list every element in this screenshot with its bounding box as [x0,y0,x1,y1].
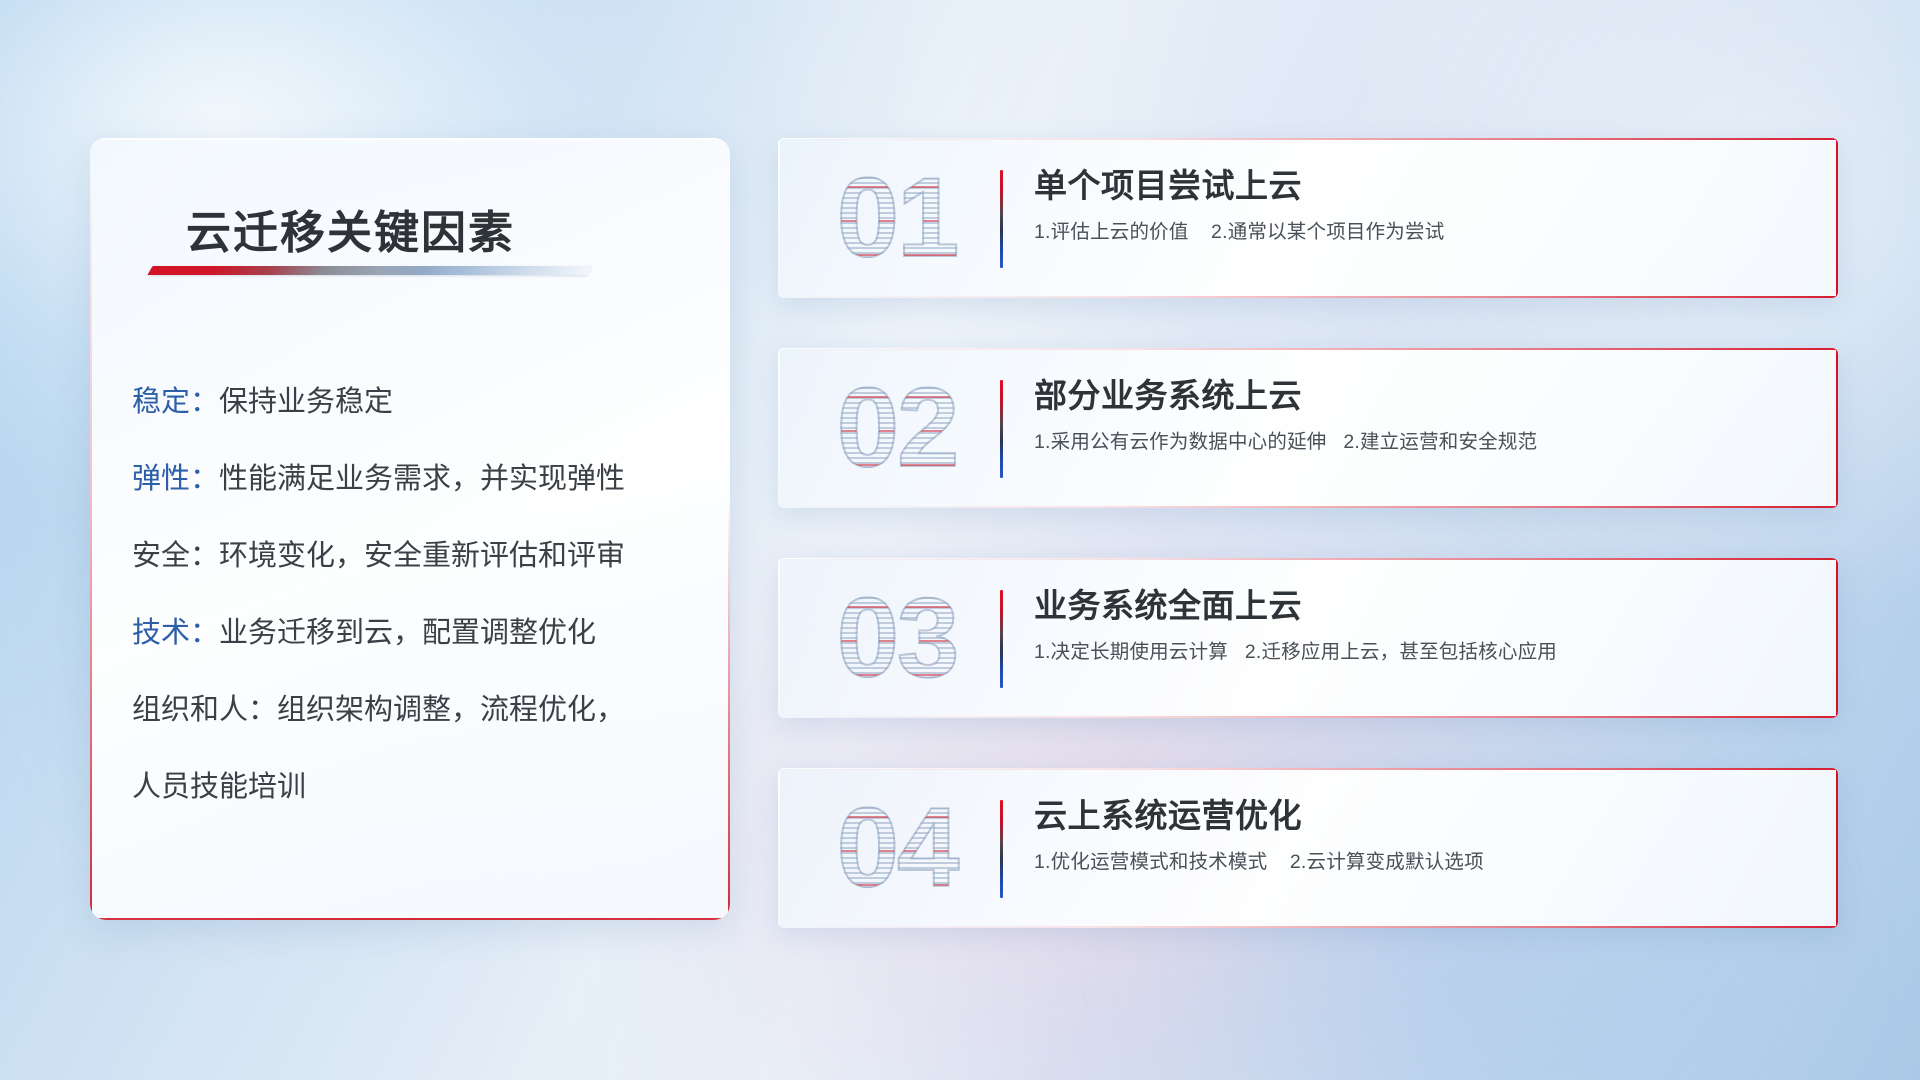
factor-text: 业务迁移到云，配置调整优化 [219,617,596,649]
migration-steps-list: 01 01 单个项目尝试上云 1.评估上云的价值 2.通常以某个项目作为尝试 0… [778,138,1838,928]
factor-text: 组织架构调整，流程优化， [277,694,625,726]
factor-row: 安全：环境变化，安全重新评估和评审 [132,542,700,571]
card-right-accent [1836,348,1838,508]
step-title: 云上系统运营优化 [1034,796,1798,836]
card-right-accent [1836,138,1838,298]
factor-label: 技术： [132,617,219,649]
card-bottom-accent [778,296,1838,298]
card-left-highlight [778,768,780,928]
step-body: 业务系统全面上云 1.决定长期使用云计算 2.迁移应用上云，甚至包括核心应用 [1034,586,1798,666]
step-number-watermark: 03 [812,572,982,704]
card-top-accent [778,768,1838,770]
card-top-accent [778,138,1838,140]
factor-text: 性能满足业务需求，并实现弹性 [219,463,625,495]
factor-label: 安全： [132,540,219,572]
factor-row: 稳定：保持业务稳定 [132,388,700,417]
card-left-highlight [778,138,780,298]
step-accent-bar [1000,800,1003,898]
slide-stage: 云迁移关键因素 稳定：保持业务稳定 弹性：性能满足业务需求，并实现弹性 安全：环… [0,0,1920,1080]
step-number-watermark: 01 [812,152,982,284]
factor-row: 人员技能培训 [132,773,700,802]
card-left-highlight [778,558,780,718]
page-title: 云迁移关键因素 [186,196,515,261]
card-bottom-accent [778,716,1838,718]
step-number-watermark: 02 [812,362,982,494]
factor-row: 技术：业务迁移到云，配置调整优化 [132,619,700,648]
panel-bottom-accent [90,918,730,921]
card-top-accent [778,558,1838,560]
step-accent-bar [1000,590,1003,688]
factor-row: 弹性：性能满足业务需求，并实现弹性 [132,465,700,494]
step-body: 部分业务系统上云 1.采用公有云作为数据中心的延伸 2.建立运营和安全规范 [1034,376,1798,456]
factor-label: 组织和人： [132,694,277,726]
step-card[interactable]: 03 03 业务系统全面上云 1.决定长期使用云计算 2.迁移应用上云，甚至包括… [778,558,1838,718]
card-bottom-accent [778,506,1838,508]
factor-label: 弹性： [132,463,219,495]
step-description: 1.采用公有云作为数据中心的延伸 2.建立运营和安全规范 [1034,430,1798,455]
card-left-highlight [778,348,780,508]
step-body: 云上系统运营优化 1.优化运营模式和技术模式 2.云计算变成默认选项 [1034,796,1798,876]
title-underline-bar [147,266,592,275]
step-accent-bar [1000,170,1003,268]
step-title: 单个项目尝试上云 [1034,166,1798,206]
factor-list: 稳定：保持业务稳定 弹性：性能满足业务需求，并实现弹性 安全：环境变化，安全重新… [132,388,700,802]
step-title: 部分业务系统上云 [1034,376,1798,416]
factor-label: 稳定： [132,386,219,418]
step-description: 1.优化运营模式和技术模式 2.云计算变成默认选项 [1034,850,1798,875]
card-bottom-accent [778,926,1838,928]
factor-text: 环境变化，安全重新评估和评审 [219,540,625,572]
card-right-accent [1836,558,1838,718]
step-number-watermark: 04 [812,782,982,914]
factor-text: 保持业务稳定 [219,386,393,418]
step-description: 1.评估上云的价值 2.通常以某个项目作为尝试 [1034,220,1798,245]
card-right-accent [1836,768,1838,928]
panel-top-highlight [90,138,730,140]
panel-right-accent [728,498,730,920]
step-description: 1.决定长期使用云计算 2.迁移应用上云，甚至包括核心应用 [1034,640,1798,665]
step-card[interactable]: 02 02 部分业务系统上云 1.采用公有云作为数据中心的延伸 2.建立运营和安… [778,348,1838,508]
step-card[interactable]: 01 01 单个项目尝试上云 1.评估上云的价值 2.通常以某个项目作为尝试 [778,138,1838,298]
card-top-accent [778,348,1838,350]
step-body: 单个项目尝试上云 1.评估上云的价值 2.通常以某个项目作为尝试 [1034,166,1798,246]
key-factors-panel: 云迁移关键因素 稳定：保持业务稳定 弹性：性能满足业务需求，并实现弹性 安全：环… [90,138,730,920]
panel-left-accent [90,164,92,920]
factor-row: 组织和人：组织架构调整，流程优化， [132,696,700,725]
factor-text: 人员技能培训 [132,771,306,803]
step-title: 业务系统全面上云 [1034,586,1798,626]
step-accent-bar [1000,380,1003,478]
step-card[interactable]: 04 04 云上系统运营优化 1.优化运营模式和技术模式 2.云计算变成默认选项 [778,768,1838,928]
